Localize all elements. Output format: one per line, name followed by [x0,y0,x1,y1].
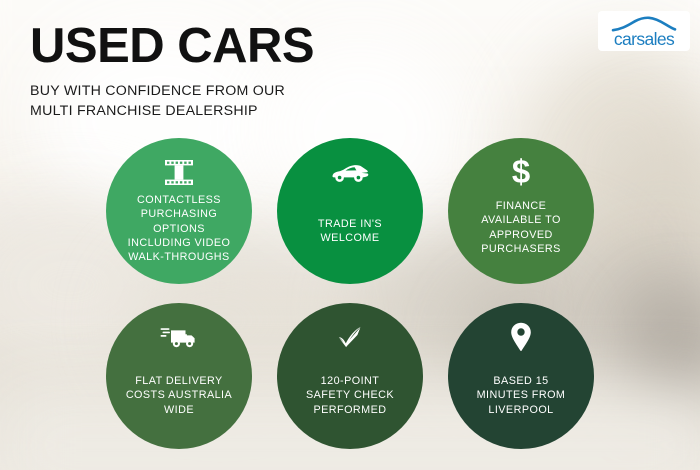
delivery-van-icon [160,320,198,354]
feature-label-line: WIDE [126,403,232,417]
feature-label: FLAT DELIVERY COSTS AUSTRALIA WIDE [120,374,238,417]
subtitle-line-2: MULTI FRANCHISE DEALERSHIP [30,101,314,121]
feature-label-line: PERFORMED [306,403,394,417]
feature-label-line: FINANCE [481,199,561,213]
feature-label-line: PURCHASERS [481,242,561,256]
page-title: USED CARS [30,22,314,72]
feature-circle-trade-ins[interactable]: TRADE IN'S WELCOME [277,138,423,284]
feature-label-line: MINUTES FROM [477,388,566,402]
svg-text:$: $ [512,156,530,188]
carsales-wordmark: carsales [614,31,674,49]
feature-label-line: BASED 15 [477,374,566,388]
feature-circle-location[interactable]: BASED 15 MINUTES FROM LIVERPOOL [448,303,594,449]
feature-label-line: 120-POINT [306,374,394,388]
map-pin-icon [510,320,532,354]
feature-circle-safety-check[interactable]: 120-POINT SAFETY CHECK PERFORMED [277,303,423,449]
feature-label-line: WELCOME [318,231,382,245]
feature-label-line: AVAILABLE TO [481,213,561,227]
feature-row-top: CONTACTLESS PURCHASING OPTIONS INCLUDING… [0,138,700,284]
feature-label-line: CONTACTLESS [128,193,231,207]
dollar-sign-icon: $ [510,155,532,189]
subtitle-line-1: BUY WITH CONFIDENCE FROM OUR [30,81,314,101]
feature-label-line: LIVERPOOL [477,403,566,417]
feature-circle-finance[interactable]: $ FINANCE AVAILABLE TO APPROVED PURCHASE… [448,138,594,284]
feature-label: 120-POINT SAFETY CHECK PERFORMED [300,374,400,417]
feature-label: TRADE IN'S WELCOME [312,217,388,246]
feature-label-line: FLAT DELIVERY [126,374,232,388]
feature-label-line: WALK-THROUGHS [128,250,231,264]
feature-label-line: APPROVED [481,228,561,242]
feature-label-line: COSTS AUSTRALIA [126,388,232,402]
sports-car-icon [330,155,370,189]
carsales-logo[interactable]: carsales [598,11,690,51]
feature-label-line: OPTIONS [128,222,231,236]
page-subtitle: BUY WITH CONFIDENCE FROM OUR MULTI FRANC… [30,81,314,121]
checkmark-icon [337,320,363,354]
header-block: USED CARS BUY WITH CONFIDENCE FROM OUR M… [30,22,314,121]
feature-circle-contactless[interactable]: CONTACTLESS PURCHASING OPTIONS INCLUDING… [106,138,252,284]
feature-grid: CONTACTLESS PURCHASING OPTIONS INCLUDING… [0,138,700,449]
feature-circle-delivery[interactable]: FLAT DELIVERY COSTS AUSTRALIA WIDE [106,303,252,449]
feature-label-line: PURCHASING [128,207,231,221]
feature-label: BASED 15 MINUTES FROM LIVERPOOL [471,374,572,417]
film-strip-icon [164,155,194,189]
feature-label-line: INCLUDING VIDEO [128,236,231,250]
feature-row-bottom: FLAT DELIVERY COSTS AUSTRALIA WIDE 120-P… [0,303,700,449]
feature-label-line: TRADE IN'S [318,217,382,231]
feature-label: CONTACTLESS PURCHASING OPTIONS INCLUDING… [122,193,237,264]
feature-label: FINANCE AVAILABLE TO APPROVED PURCHASERS [475,199,567,256]
feature-label-line: SAFETY CHECK [306,388,394,402]
promo-banner: USED CARS BUY WITH CONFIDENCE FROM OUR M… [0,0,700,470]
